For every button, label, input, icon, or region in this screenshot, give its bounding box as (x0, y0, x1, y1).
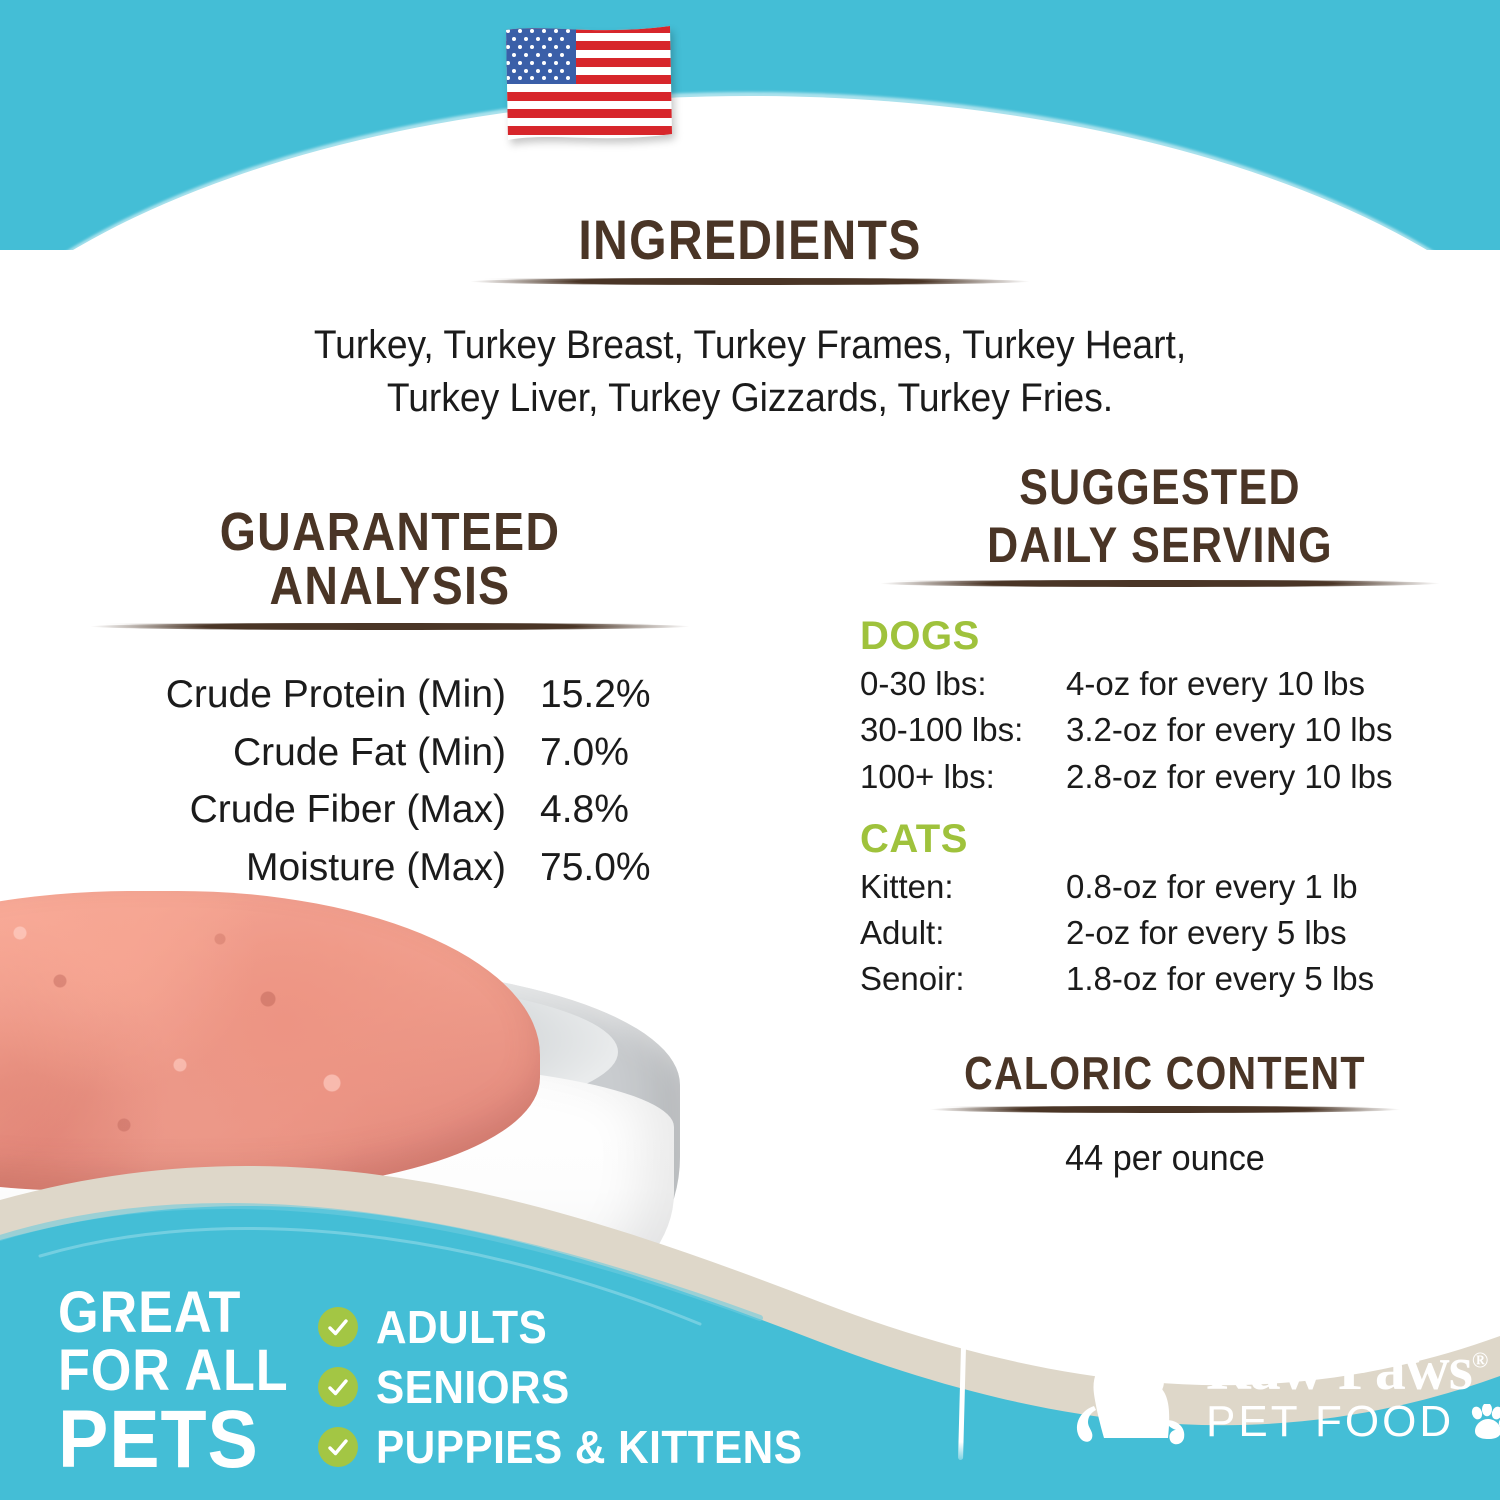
ga-label: Crude Fat (Min) (60, 724, 540, 782)
ingredients-line-1: Turkey, Turkey Breast, Turkey Frames, Tu… (285, 319, 1215, 372)
us-flag-icon (500, 22, 676, 146)
dog-cat-silhouette-icon (1060, 1324, 1200, 1460)
check-label: SENIORS (376, 1364, 570, 1410)
serving-lifestage: Senoir: (860, 956, 1066, 1002)
table-row: Moisture (Max) 75.0% (60, 839, 720, 897)
sds-title-line-1: SUGGESTED (1019, 459, 1301, 515)
serving-weight: 100+ lbs: (860, 754, 1066, 800)
cats-serving-table: Kitten: 0.8-oz for every 1 lb Adult: 2-o… (860, 864, 1460, 1003)
ga-value: 15.2% (540, 666, 720, 724)
cats-group: CATS Kitten: 0.8-oz for every 1 lb Adult… (860, 818, 1460, 1003)
ga-label: Crude Fiber (Max) (60, 781, 540, 839)
table-row: 100+ lbs: 2.8-oz for every 10 lbs (860, 754, 1460, 800)
serving-amount: 2-oz for every 5 lbs (1066, 910, 1460, 956)
logo-wordmark: Raw Paws® PET FOOD (1206, 1340, 1500, 1445)
serving-amount: 4-oz for every 10 lbs (1066, 661, 1460, 707)
guaranteed-analysis-title: GUARANTEED ANALYSIS (106, 505, 674, 613)
table-row: Senoir: 1.8-oz for every 5 lbs (860, 956, 1460, 1002)
serving-amount: 2.8-oz for every 10 lbs (1066, 754, 1460, 800)
check-circle-icon (318, 1307, 358, 1347)
logo-subtitle-row: PET FOOD (1206, 1400, 1500, 1444)
dogs-group: DOGS 0-30 lbs: 4-oz for every 10 lbs 30-… (860, 615, 1460, 800)
table-row: 30-100 lbs: 3.2-oz for every 10 lbs (860, 707, 1460, 753)
suggested-daily-serving-section: SUGGESTED DAILY SERVING DOGS 0-30 lbs: 4… (860, 462, 1460, 1003)
ingredients-line-2: Turkey Liver, Turkey Gizzards, Turkey Fr… (285, 372, 1215, 425)
check-label: PUPPIES & KITTENS (376, 1424, 802, 1470)
registered-trademark: ® (1472, 1347, 1487, 1372)
serving-lifestage: Adult: (860, 910, 1066, 956)
check-label: ADULTS (376, 1304, 547, 1350)
table-row: Crude Protein (Min) 15.2% (60, 666, 720, 724)
guaranteed-analysis-underline (90, 623, 690, 630)
serving-amount: 3.2-oz for every 10 lbs (1066, 707, 1460, 753)
check-circle-icon (318, 1367, 358, 1407)
serving-weight: 30-100 lbs: (860, 707, 1066, 753)
table-row: Adult: 2-oz for every 5 lbs (860, 910, 1460, 956)
table-row: 0-30 lbs: 4-oz for every 10 lbs (860, 661, 1460, 707)
caloric-content-value: 44 per ounce (913, 1137, 1417, 1179)
caloric-content-title: CALORIC CONTENT (937, 1050, 1393, 1096)
headline-line-3: PETS (58, 1401, 294, 1478)
cats-heading: CATS (860, 818, 1460, 860)
ga-value: 4.8% (540, 781, 720, 839)
sds-title-line-2: DAILY SERVING (902, 520, 1418, 570)
ga-value: 75.0% (540, 839, 720, 897)
bottom-banner-content: GREAT FOR ALL PETS ADULTS SENIORS (0, 1200, 1500, 1500)
header-arc-text (0, 0, 1500, 170)
product-label-infographic: INGREDIENTS Turkey, Turkey Breast, Turke… (0, 0, 1500, 1500)
serving-weight: 0-30 lbs: (860, 661, 1066, 707)
sds-title: SUGGESTED DAILY SERVING (902, 462, 1418, 570)
ingredients-body: Turkey, Turkey Breast, Turkey Frames, Tu… (285, 319, 1215, 425)
serving-lifestage: Kitten: (860, 864, 1066, 910)
table-row: Kitten: 0.8-oz for every 1 lb (860, 864, 1460, 910)
ingredients-title: INGREDIENTS (320, 212, 1180, 268)
logo-name-text: Raw Paws (1206, 1335, 1472, 1403)
sds-underline (880, 580, 1440, 587)
logo-name: Raw Paws® (1206, 1340, 1500, 1399)
dogs-serving-table: 0-30 lbs: 4-oz for every 10 lbs 30-100 l… (860, 661, 1460, 800)
list-item: SENIORS (318, 1364, 839, 1410)
guaranteed-analysis-table: Crude Protein (Min) 15.2% Crude Fat (Min… (60, 666, 720, 897)
headline-line-1: GREAT (58, 1286, 289, 1341)
great-for-all-pets-headline: GREAT FOR ALL PETS (58, 1286, 314, 1478)
guaranteed-analysis-section: GUARANTEED ANALYSIS Crude Protein (Min) … (60, 505, 720, 897)
headline-line-2: FOR ALL (58, 1344, 289, 1399)
dogs-heading: DOGS (860, 615, 1460, 657)
ga-value: 7.0% (540, 724, 720, 782)
ga-label: Crude Protein (Min) (60, 666, 540, 724)
ga-label: Moisture (Max) (60, 839, 540, 897)
ingredients-section: INGREDIENTS Turkey, Turkey Breast, Turke… (250, 212, 1250, 425)
list-item: ADULTS (318, 1304, 839, 1350)
serving-amount: 1.8-oz for every 5 lbs (1066, 956, 1460, 1002)
list-item: PUPPIES & KITTENS (318, 1424, 839, 1470)
caloric-content-section: CALORIC CONTENT 44 per ounce (900, 1050, 1430, 1179)
ingredients-underline (470, 278, 1030, 285)
table-row: Crude Fat (Min) 7.0% (60, 724, 720, 782)
table-row: Crude Fiber (Max) 4.8% (60, 781, 720, 839)
caloric-content-underline (930, 1106, 1400, 1113)
check-circle-icon (318, 1427, 358, 1467)
brand-logo: Raw Paws® PET FOOD (1060, 1324, 1500, 1460)
serving-amount: 0.8-oz for every 1 lb (1066, 864, 1460, 910)
logo-subtitle: PET FOOD (1206, 1400, 1454, 1444)
suitability-checklist: ADULTS SENIORS PUPPIES & KITTENS (318, 1304, 839, 1470)
paw-print-icon (1468, 1404, 1500, 1440)
vertical-divider (958, 1310, 967, 1460)
